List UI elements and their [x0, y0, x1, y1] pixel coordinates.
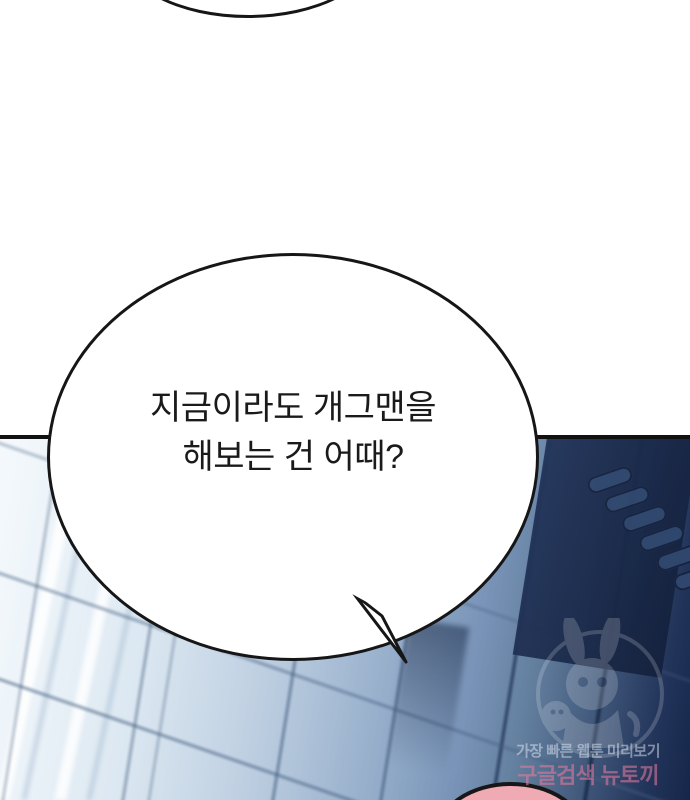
speech-bubble: 지금이라도 개그맨을 해보는 건 어때? [47, 253, 539, 661]
speech-bubble-text: 지금이라도 개그맨을 해보는 건 어때? [50, 384, 536, 483]
partial-speech-bubble-top [120, 0, 376, 18]
facade-ornament-band [580, 437, 690, 693]
webtoon-page: 지금이라도 개그맨을 해보는 건 어때? 가장 빠른 웹툰 미리보기 구글검색 … [0, 0, 690, 800]
dark-facade-block [513, 437, 690, 678]
tail-shape [354, 594, 406, 662]
speech-bubble-tail [352, 588, 408, 666]
